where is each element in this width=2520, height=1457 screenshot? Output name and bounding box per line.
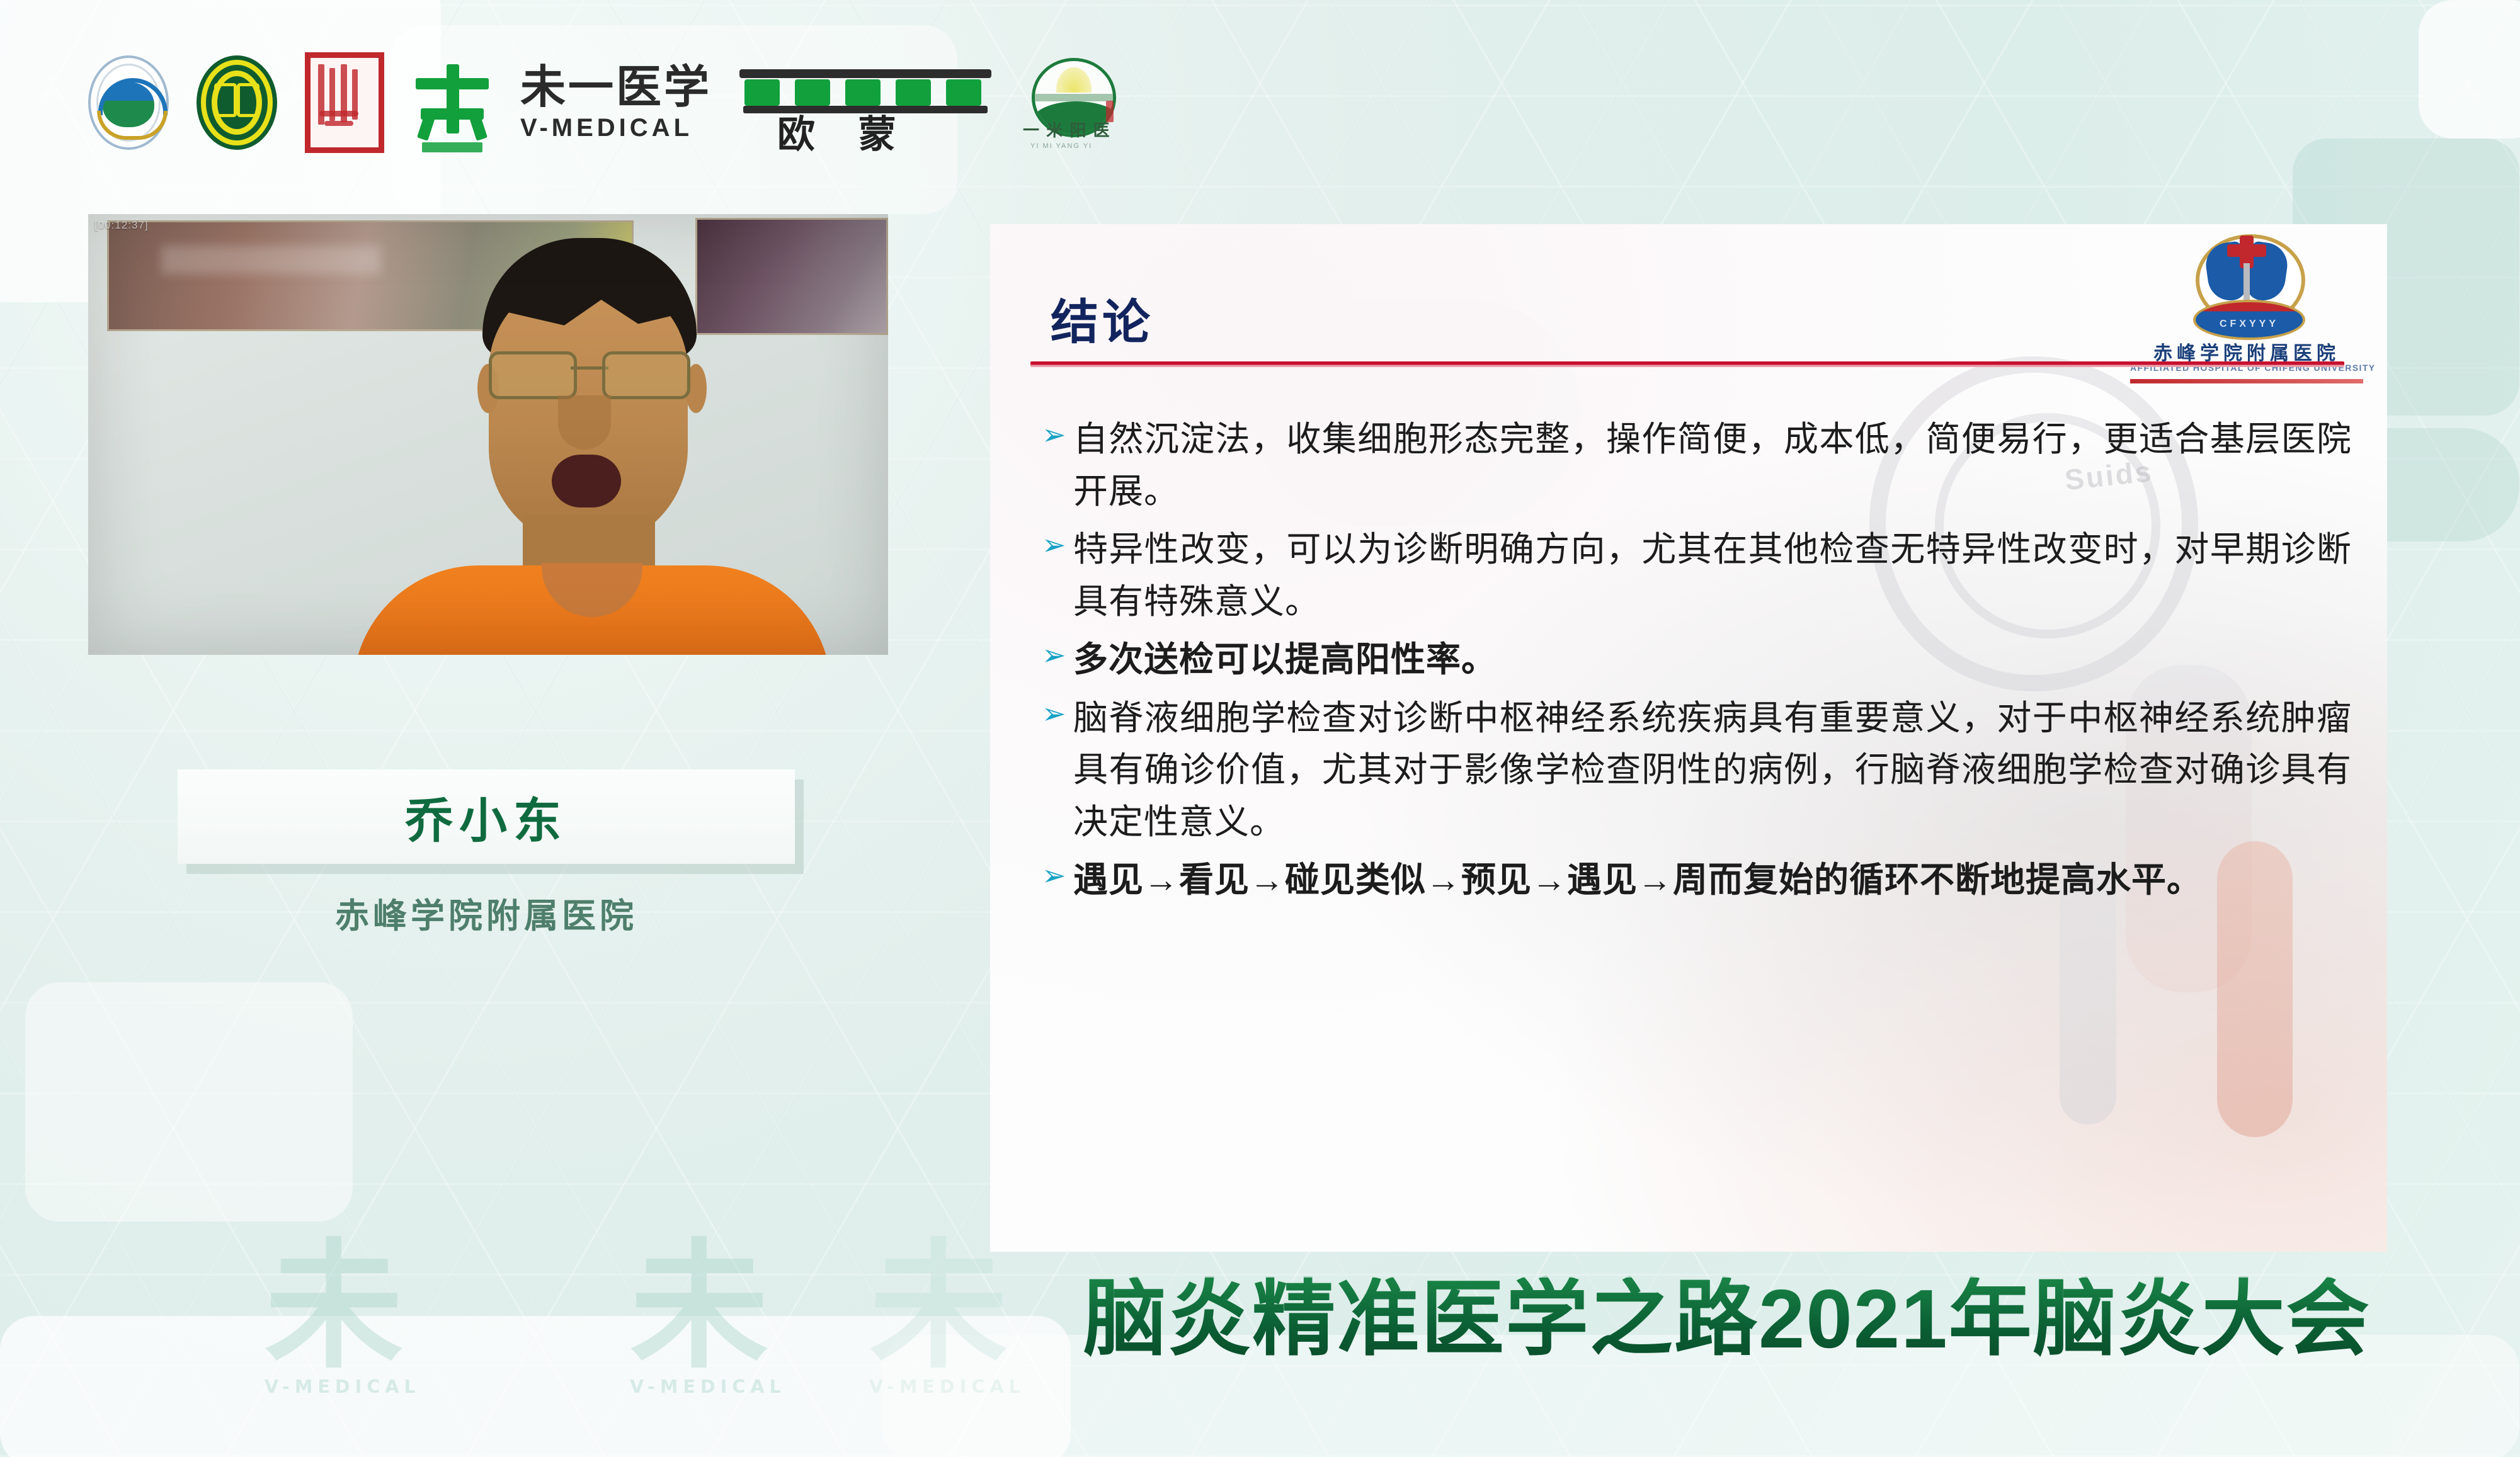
china-health-emblem-icon — [88, 55, 169, 150]
presentation-slide[interactable]: Suids CFXYYY 赤峰学院附属医院 AFFILIATED HOSPITA… — [990, 224, 2387, 1252]
stream-stage: 未V-MEDICAL 未V-MEDICAL 未V-MEDICAL — [0, 0, 2520, 1457]
speaker-name: 乔小东 — [405, 782, 567, 851]
bg-shape — [25, 982, 353, 1222]
leaf-logo-label: 一 米 阳 医 — [1023, 118, 1111, 141]
v-medical-wordmark: 未一医学 V-MEDICAL — [520, 55, 712, 150]
slide-bullet-item: ➢ 多次送检可以提高阳性率。 — [1042, 633, 2352, 686]
slide-bullet-item: ➢ 脑脊液细胞学检查对诊断中枢神经系统疾病具有重要意义，对于中枢神经系统肿瘤具有… — [1042, 692, 2352, 848]
v-medical-mark-icon — [412, 55, 493, 150]
slide-bullet-item: ➢ 特异性改变，可以为诊断明确方向，尤其在其他检查无特异性改变时，对早期诊断具有… — [1042, 523, 2352, 627]
slide-bullet-text: 多次送检可以提高阳性率。 — [1073, 633, 2352, 686]
bullet-arrow-icon: ➢ — [1042, 854, 1073, 897]
oumeng-logo-label: 欧 蒙 — [777, 116, 913, 154]
slide-bullet-item: ➢ 遇见→看见→碰见类似→预见→遇见→周而复始的循环不断地提高水平。 — [1042, 854, 2352, 906]
slide-bullet-text: 特异性改变，可以为诊断明确方向，尤其在其他检查无特异性改变时，对早期诊断具有特殊… — [1073, 523, 2352, 627]
v-medical-wordmark-cn: 未一医学 — [520, 65, 712, 110]
slide-bullet-list: ➢ 自然沉淀法，收集细胞形态完整，操作简便，成本低，简便易行，更适合基层医院开展… — [1042, 413, 2352, 912]
slide-title-underline — [1030, 361, 2344, 367]
hospital-logo-rule — [2130, 379, 2363, 383]
leaf-logo-icon: 一 米 阳 医 YI MI YANG YI — [1019, 55, 1120, 150]
bullet-arrow-icon: ➢ — [1042, 692, 1073, 735]
red-seal-icon — [305, 52, 384, 153]
slide-bullet-text: 遇见→看见→碰见类似→预见→遇见→周而复始的循环不断地提高水平。 — [1073, 854, 2352, 906]
bg-shape — [2419, 0, 2520, 139]
slide-bullet-text: 脑脊液细胞学检查对诊断中枢神经系统疾病具有重要意义，对于中枢神经系统肿瘤具有确诊… — [1073, 692, 2352, 848]
speaker-nameplate: 乔小东 — [178, 769, 795, 864]
slide-bullet-text: 自然沉淀法，收集细胞形态完整，操作简便，成本低，简便易行，更适合基层医院开展。 — [1073, 413, 2352, 517]
leaf-logo-sublabel: YI MI YANG YI — [1030, 142, 1092, 150]
video-vignette — [88, 214, 888, 655]
background-watermark: 未V-MEDICAL — [265, 1237, 421, 1395]
background-watermark: 未V-MEDICAL — [869, 1237, 1025, 1395]
slide-bullet-item: ➢ 自然沉淀法，收集细胞形态完整，操作简便，成本低，简便易行，更适合基层医院开展… — [1042, 413, 2352, 517]
hospital-logo: CFXYYY 赤峰学院附属医院 AFFILIATED HOSPITAL OF C… — [2130, 234, 2363, 394]
sponsor-logo-bar: 未一医学 V-MEDICAL 欧 蒙 一 米 阳 医 YI MI YA — [88, 55, 1120, 150]
bullet-arrow-icon: ➢ — [1042, 413, 1073, 456]
conference-banner: 脑炎精准医学之路2021年脑炎大会 — [1083, 1259, 2494, 1379]
bullet-arrow-icon: ➢ — [1042, 523, 1073, 567]
green-gold-emblem-icon — [197, 55, 277, 150]
background-watermark: 未V-MEDICAL — [630, 1237, 786, 1395]
bullet-arrow-icon: ➢ — [1042, 633, 1073, 677]
oumeng-logo-icon: 欧 蒙 — [739, 55, 991, 150]
slide-title: 结论 — [1051, 283, 1154, 353]
speaker-affiliation: 赤峰学院附属医院 — [178, 888, 795, 938]
conference-banner-title: 脑炎精准医学之路2021年脑炎大会 — [1083, 1278, 2371, 1361]
hospital-logo-base-text: CFXYYY — [2196, 319, 2303, 330]
v-medical-wordmark-en: V-MEDICAL — [520, 115, 712, 140]
speaker-video-feed[interactable]: [00:12:37] — [88, 214, 888, 655]
video-overlay-timestamp: [00:12:37] — [94, 219, 149, 232]
